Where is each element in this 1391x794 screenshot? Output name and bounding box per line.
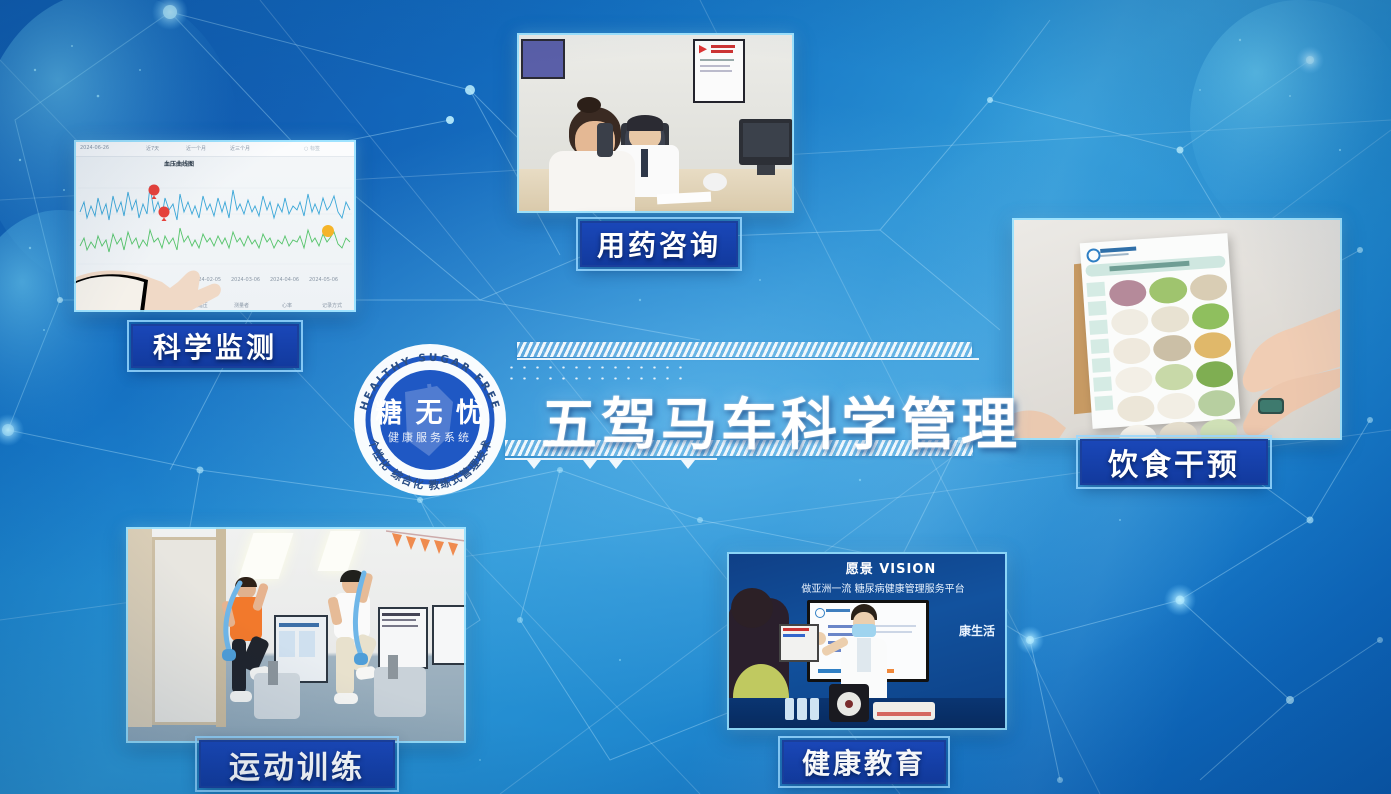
vignette-overlay — [0, 0, 1391, 794]
slide-stage: 2024-06-26 近7天 近一个月 近三个月 ○ 标签 血压曲线图 — [0, 0, 1391, 794]
